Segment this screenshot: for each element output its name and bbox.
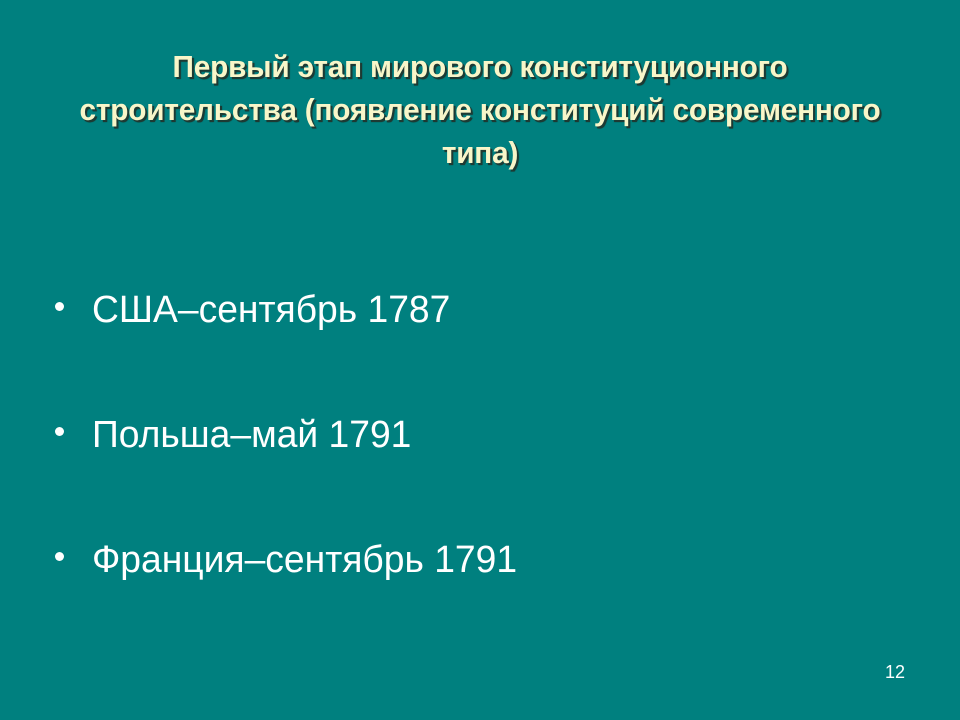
list-item: Франция–сентябрь 1791 bbox=[0, 540, 960, 665]
bullet-list: США–сентябрь 1787 Польша–май 1791 Франци… bbox=[0, 290, 960, 665]
bullet-item-text: Польша–май 1791 bbox=[92, 415, 943, 455]
list-item: США–сентябрь 1787 bbox=[0, 290, 960, 415]
list-item: Польша–май 1791 bbox=[0, 415, 960, 540]
bullet-dot-icon bbox=[55, 427, 64, 436]
presentation-slide: Первый этап мирового конституционного ст… bbox=[0, 0, 960, 720]
slide-title: Первый этап мирового конституционного ст… bbox=[77, 45, 883, 174]
bullet-dot-icon bbox=[55, 552, 64, 561]
bullet-item-text: Франция–сентябрь 1791 bbox=[92, 540, 943, 580]
slide-page-number: 12 bbox=[885, 662, 905, 682]
bullet-dot-icon bbox=[55, 302, 64, 311]
bullet-item-text: США–сентябрь 1787 bbox=[92, 290, 943, 330]
